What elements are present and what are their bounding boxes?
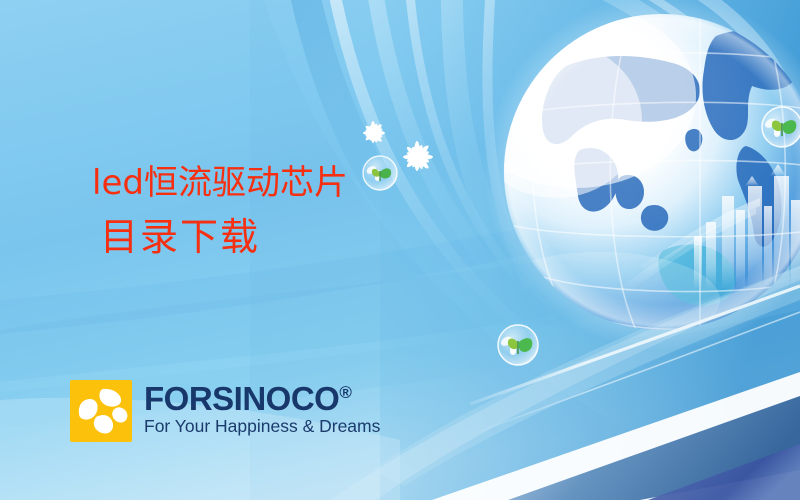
bubble-sprout-lower — [498, 325, 538, 365]
headline-block: led恒流驱动芯片 目录下载 — [92, 166, 472, 256]
brand-name: FORSINOCO® — [144, 382, 380, 415]
registered-trademark-symbol: ® — [339, 383, 351, 402]
headline-line-1: led恒流驱动芯片 — [92, 166, 472, 200]
brand-tagline: For Your Happiness & Dreams — [144, 417, 380, 436]
forsinoco-pinwheel-mark-icon — [70, 380, 132, 442]
bubble-sprout-right — [762, 107, 800, 147]
brand-name-word: FORSINOCO — [144, 380, 339, 417]
brand-logo: FORSINOCO® For Your Happiness & Dreams — [70, 380, 380, 442]
headline-line-2: 目录下载 — [92, 218, 472, 256]
poster-canvas: led恒流驱动芯片 目录下载 FORSINOCO® For Your Happi… — [0, 0, 800, 500]
brand-text-block: FORSINOCO® For Your Happiness & Dreams — [144, 380, 380, 436]
